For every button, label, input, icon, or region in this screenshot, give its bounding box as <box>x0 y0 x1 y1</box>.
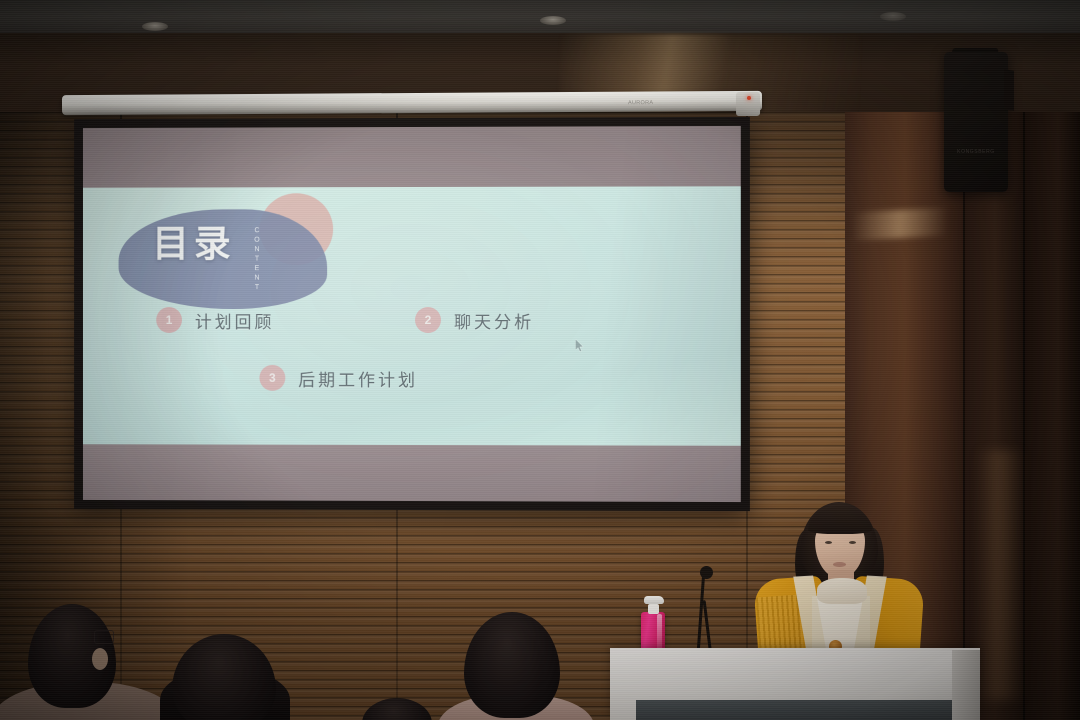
podium-base-panel <box>636 700 952 720</box>
roller-brand-label: AURORA <box>628 99 688 108</box>
letterbox-bar-top <box>83 126 741 188</box>
agenda-label: 聊天分析 <box>454 307 534 332</box>
ceiling-light-icon <box>880 12 906 21</box>
column-highlight <box>851 208 947 241</box>
slide-canvas: 目录 CONTENT 1 计划回顾 2 聊天分析 3 后期工作计划 <box>83 186 741 445</box>
projection-surface[interactable]: 目录 CONTENT 1 计划回顾 2 聊天分析 3 后期工作计划 <box>83 126 741 502</box>
roller-status-led <box>747 96 751 100</box>
podium-side-panel <box>952 650 980 720</box>
ceiling-light-icon <box>142 22 168 31</box>
bottle-highlight <box>657 614 662 650</box>
agenda-label: 后期工作计划 <box>298 365 418 390</box>
audience-glasses-icon <box>94 630 114 644</box>
mouse-pointer-icon <box>575 339 585 353</box>
letterbox-bar-bottom <box>83 444 741 502</box>
presenter-eye-left <box>825 541 832 544</box>
agenda-list: 1 计划回顾 2 聊天分析 3 后期工作计划 <box>83 186 741 445</box>
wall-speaker <box>944 52 1008 192</box>
column-seam <box>963 112 965 720</box>
microphone-capsule <box>700 566 713 579</box>
presenter-turtleneck <box>817 578 867 604</box>
ceiling-light-icon <box>540 16 566 25</box>
presentation-room-photo: KONGSBERG AURORA 目录 CONTENT 1 计划回顾 <box>0 0 1080 720</box>
agenda-number-badge: 1 <box>156 307 182 333</box>
dark-wood-column <box>1025 112 1080 720</box>
column-highlight <box>975 450 1025 700</box>
agenda-label: 计划回顾 <box>195 308 274 333</box>
speaker-brand-label: KONGSBERG <box>948 148 1004 157</box>
agenda-item-3[interactable]: 3 后期工作计划 <box>259 365 418 391</box>
bottle-pump-head[interactable] <box>644 596 664 604</box>
agenda-number-badge: 2 <box>415 307 441 333</box>
agenda-item-1[interactable]: 1 计划回顾 <box>156 307 274 333</box>
audience-ear <box>92 648 108 670</box>
presenter-mouth <box>833 562 846 567</box>
agenda-number-badge: 3 <box>259 365 285 391</box>
projection-screen-frame: 目录 CONTENT 1 计划回顾 2 聊天分析 3 后期工作计划 <box>74 117 750 511</box>
bottle-neck <box>648 604 659 614</box>
speaker-arm <box>1004 69 1014 110</box>
presenter-eye-right <box>849 541 856 544</box>
agenda-item-2[interactable]: 2 聊天分析 <box>415 307 534 333</box>
